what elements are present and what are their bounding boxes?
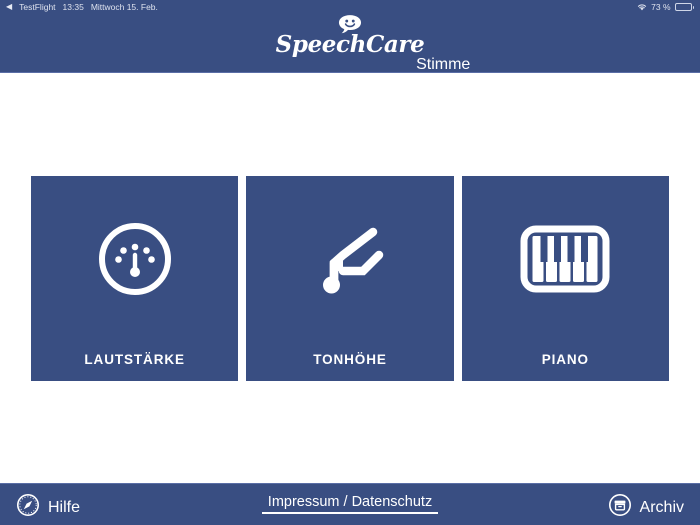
brand-logo: SpeechCare Stimme [276,14,425,73]
gauge-icon [96,220,174,298]
archive-box-icon [608,493,632,522]
back-arrow-icon[interactable]: ◀ [6,3,12,11]
brand-name: SpeechCare [276,33,425,56]
battery-percent-label: 73 % [651,2,670,12]
tile-label-piano: PIANO [462,352,669,367]
wifi-icon [637,3,647,11]
legal-label: Impressum / Datenschutz [268,494,432,510]
tile-label-lautstaerke: LAUTSTÄRKE [31,352,238,367]
mode-tile-grid: LAUTSTÄRKE TONHÖHE [31,176,669,381]
archive-button[interactable]: Archiv [608,493,684,522]
app-header: SpeechCare Stimme [0,14,700,73]
status-time: 13:35 [63,2,84,12]
back-app-label[interactable]: TestFlight [19,2,55,12]
status-bar: ◀ TestFlight 13:35 Mittwoch 15. Feb. 73 … [0,0,700,14]
tuning-fork-icon [311,220,389,298]
legal-underline [262,512,438,514]
app-subtitle: Stimme [416,57,470,73]
app-footer: Hilfe Impressum / Datenschutz Archiv [0,483,700,525]
tile-lautstaerke[interactable]: LAUTSTÄRKE [31,176,238,381]
tile-label-tonhoehe: TONHÖHE [246,352,453,367]
piano-keys-icon [520,220,610,298]
legal-link[interactable]: Impressum / Datenschutz [0,494,700,514]
status-bar-right: 73 % [637,2,694,12]
tile-piano[interactable]: PIANO [462,176,669,381]
status-bar-left: ◀ TestFlight 13:35 Mittwoch 15. Feb. [6,2,158,12]
app-root: ◀ TestFlight 13:35 Mittwoch 15. Feb. 73 … [0,0,700,525]
archive-label: Archiv [640,499,684,517]
status-date: Mittwoch 15. Feb. [91,2,158,12]
tile-tonhoehe[interactable]: TONHÖHE [246,176,453,381]
battery-icon [675,3,695,11]
